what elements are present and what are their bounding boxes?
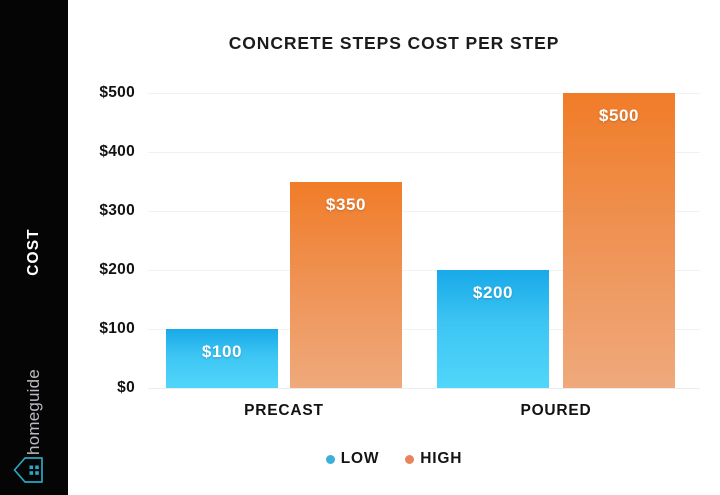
y-axis-title-label: COST — [25, 228, 43, 275]
y-tick-label-200: $200 — [99, 261, 135, 279]
y-tick-label-400: $400 — [99, 143, 135, 161]
bar-precast-low[interactable]: $100 — [166, 329, 278, 388]
x-tick-label-precast: PRECAST — [166, 402, 402, 420]
legend-dot-high-icon — [405, 455, 414, 464]
y-tick-label-0: $0 — [117, 379, 135, 397]
chart-card: CONCRETE STEPS COST PER STEP $500 $400 $… — [68, 0, 720, 495]
x-tick-label-poured: POURED — [437, 402, 675, 420]
chart-screenshot: COST homeguide CONCRETE STEPS COST PER S… — [0, 0, 720, 495]
y-tick-label-100: $100 — [99, 320, 135, 338]
y-tick-label-300: $300 — [99, 202, 135, 220]
chart-legend: LOW HIGH — [68, 450, 720, 468]
homeguide-house-grid-icon — [12, 455, 46, 485]
legend-item-low[interactable]: LOW — [326, 450, 380, 468]
legend-label-low: LOW — [341, 450, 380, 468]
bar-poured-high[interactable]: $500 — [563, 93, 675, 388]
legend-item-high[interactable]: HIGH — [405, 450, 462, 468]
bar-precast-high[interactable]: $350 — [290, 182, 402, 389]
y-tick-label-500: $500 — [99, 84, 135, 102]
bar-value-poured-high: $500 — [563, 106, 675, 126]
chart-title: CONCRETE STEPS COST PER STEP — [68, 33, 720, 54]
bar-value-precast-high: $350 — [290, 195, 402, 215]
bar-value-precast-low: $100 — [166, 342, 278, 362]
bar-value-poured-low: $200 — [437, 283, 549, 303]
legend-dot-low-icon — [326, 455, 335, 464]
bar-poured-low[interactable]: $200 — [437, 270, 549, 388]
brand-wordmark: homeguide — [24, 369, 44, 455]
left-sidebar: COST homeguide — [0, 0, 68, 495]
gridline-0: $0 — [148, 388, 700, 389]
plot-area: $500 $400 $300 $200 $100 $0 $100 $350 — [148, 93, 700, 388]
legend-label-high: HIGH — [420, 450, 462, 468]
